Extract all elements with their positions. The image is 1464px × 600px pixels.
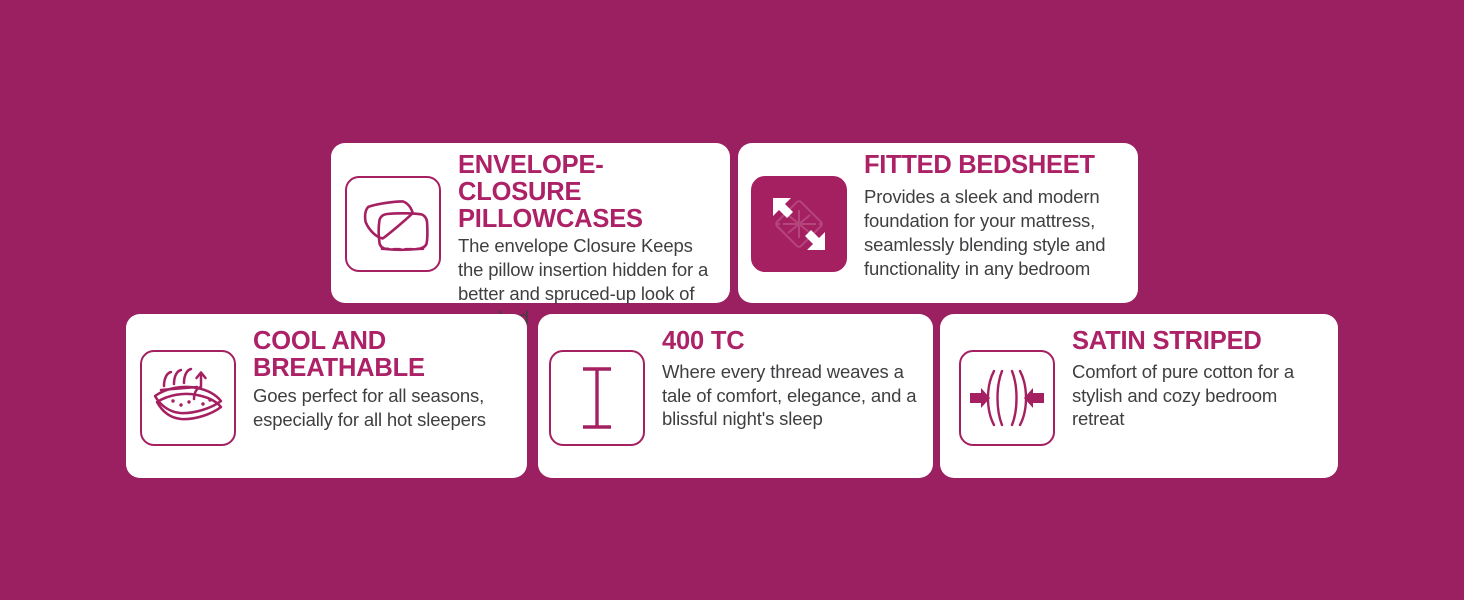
fitted-bedsheet-icon <box>760 185 838 263</box>
card-title: SATIN STRIPED <box>1072 328 1328 355</box>
fitted-bedsheet-icon-box <box>751 176 847 272</box>
feature-card-satin-striped: SATIN STRIPED Comfort of pure cotton for… <box>940 314 1338 478</box>
satin-stripes-icon-box <box>959 350 1055 446</box>
feature-card-fitted-bedsheet: FITTED BEDSHEET Provides a sleek and mod… <box>738 143 1138 303</box>
breathable-fabric-icon <box>150 364 226 432</box>
feature-card-cool-and-breathable: COOL AND BREATHABLE Goes perfect for all… <box>126 314 527 478</box>
pillowcases-icon <box>356 191 430 257</box>
card-body: Goes perfect for all seasons, especially… <box>253 384 517 431</box>
feature-card-envelope-closure-pillowcases: ENVELOPE-CLOSURE PILLOWCASES The envelop… <box>331 143 730 303</box>
card-body: Comfort of pure cotton for a stylish and… <box>1072 360 1328 431</box>
card-text-block: ENVELOPE-CLOSURE PILLOWCASES The envelop… <box>441 152 720 330</box>
card-text-block: COOL AND BREATHABLE Goes perfect for all… <box>236 328 517 431</box>
card-title: COOL AND BREATHABLE <box>253 328 517 382</box>
card-title: FITTED BEDSHEET <box>864 152 1128 179</box>
card-text-block: SATIN STRIPED Comfort of pure cotton for… <box>1055 328 1328 431</box>
satin-stripes-icon <box>968 365 1046 431</box>
card-body: Where every thread weaves a tale of comf… <box>662 360 923 431</box>
card-title: 400 TC <box>662 328 923 355</box>
breathable-fabric-icon-box <box>140 350 236 446</box>
thread-count-icon-box <box>549 350 645 446</box>
feature-infographic: ENVELOPE-CLOSURE PILLOWCASES The envelop… <box>0 0 1464 600</box>
card-text-block: FITTED BEDSHEET Provides a sleek and mod… <box>847 152 1128 281</box>
card-text-block: 400 TC Where every thread weaves a tale … <box>645 328 923 431</box>
feature-card-thread-count: 400 TC Where every thread weaves a tale … <box>538 314 933 478</box>
card-body: Provides a sleek and modern foundation f… <box>864 185 1128 281</box>
card-title: ENVELOPE-CLOSURE PILLOWCASES <box>458 152 720 233</box>
thread-count-icon <box>569 365 625 431</box>
pillowcases-icon-box <box>345 176 441 272</box>
